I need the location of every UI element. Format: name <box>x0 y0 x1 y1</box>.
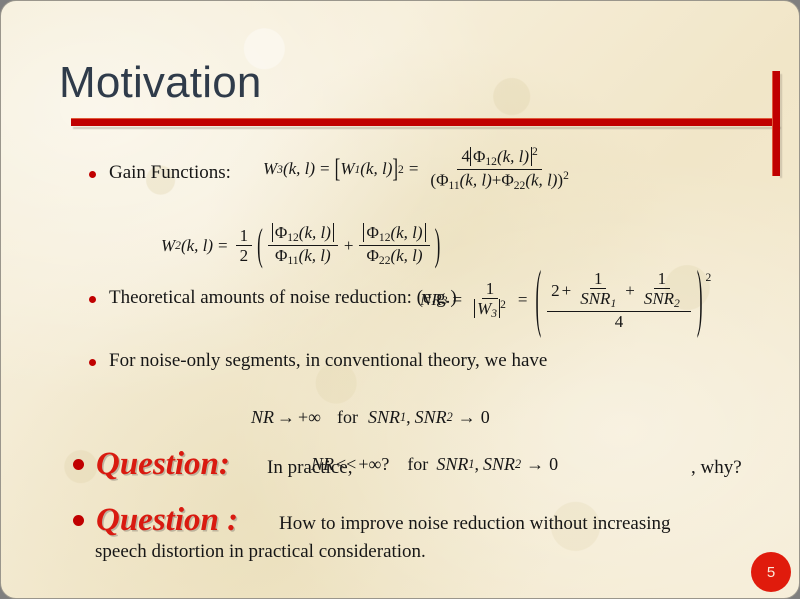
formula-nr3-f1-den-w: W <box>477 299 491 318</box>
formula-limit: NR → +∞ for SNR1, SNR2 → 0 <box>251 407 490 428</box>
formula-nr3-inner-f2-den-text: SNR <box>644 289 674 308</box>
formula-w3-fraction: 4Φ12(k, l)2 (Φ11(k, l)+Φ22(k, l))2 <box>426 146 572 193</box>
formula-nr3-inner-f2-num: 1 <box>654 269 671 289</box>
formula-nr3-inner-f1-num: 1 <box>590 269 607 289</box>
question-1-heading: Question: <box>96 446 230 483</box>
formula-w2-t2-den-sub: 22 <box>379 254 391 267</box>
formula-w3-den-phi1-sub: 11 <box>449 179 460 192</box>
formula-limit-snr1: SNR <box>368 407 400 428</box>
formula-nr3-inner-f2-den-sub: 2 <box>674 297 680 310</box>
formula-w3-den-args1: (k, l) <box>460 171 492 190</box>
formula-w3-args: (k, l) <box>283 159 315 179</box>
formula-q1-question-mark: ? <box>381 454 389 475</box>
formula-w3-bracket-close: ] <box>392 154 398 185</box>
formula-w3-numerator: 4Φ12(k, l)2 <box>457 146 541 170</box>
formula-q1-arrow: → <box>526 454 544 475</box>
formula-nr3-f1-den-abs: W3 <box>474 299 500 318</box>
formula-w2-term2-num: Φ12(k, l) <box>359 223 429 246</box>
formula-w2-term2-den: Φ22(k, l) <box>362 246 426 268</box>
formula-w2-half-den: 2 <box>236 246 253 265</box>
formula-nr3-eq2: = <box>518 290 528 310</box>
formula-w3-eq1: = <box>320 159 330 179</box>
formula-w3-w1-args: (k, l) <box>360 159 392 179</box>
formula-w3-denominator: (Φ11(k, l)+Φ22(k, l))2 <box>426 170 572 193</box>
formula-q1-zero: 0 <box>549 454 558 475</box>
formula-w3-den-args2: (k, l) <box>525 171 557 190</box>
bullet-label-gain-functions: Gain Functions: <box>109 162 231 184</box>
formula-w3-num-abs: Φ12(k, l) <box>470 147 532 166</box>
formula-nr3-f1-den-pow: 2 <box>500 298 506 311</box>
formula-nr3-paren-close: ) <box>697 256 703 344</box>
formula-nr3-inner-two: 2 <box>551 281 560 300</box>
formula-w2-t2-num-phi: Φ <box>366 223 378 242</box>
formula-w2-plus: + <box>344 236 354 256</box>
presentation-slide: Motivation Gain Functions: W3(k, l) = [ … <box>0 0 800 599</box>
formula-w2-eq: = <box>218 236 228 256</box>
question-2-line-2: speech distortion in practical considera… <box>95 541 426 563</box>
formula-w3-bracket-open: [ <box>335 154 341 185</box>
bullet-marker-question-2 <box>73 515 84 526</box>
formula-w3-lhs: W <box>263 159 277 179</box>
formula-w2-term2: Φ12(k, l) Φ22(k, l) <box>359 223 429 268</box>
formula-w3-den-phi2-sub: 22 <box>514 179 526 192</box>
formula-w3-num-phi-sub: 12 <box>485 155 497 168</box>
title-rule-shadow <box>73 127 781 129</box>
formula-nr3-inner-f1-den-text: SNR <box>580 289 610 308</box>
formula-nr3-inner-plus2: + <box>625 281 635 300</box>
formula-limit-for: for <box>337 407 358 428</box>
bullet-marker-3 <box>89 359 96 366</box>
formula-q1-inf: +∞ <box>358 454 381 475</box>
formula-w2-term1: Φ12(k, l) Φ11(k, l) <box>268 223 338 268</box>
formula-w3-num-args: (k, l) <box>497 147 529 166</box>
formula-nr3-inner-f1-den-sub: 1 <box>610 297 616 310</box>
formula-w2-half: 1 2 <box>236 226 253 265</box>
formula-nr3-f1-num: 1 <box>482 279 499 299</box>
formula-q1-snr1: SNR <box>436 454 468 475</box>
bullet-label-theoretical-noise-reduction: Theoretical amounts of noise reduction: … <box>109 287 457 309</box>
formula-w2-args: (k, l) <box>181 236 213 256</box>
formula-w2-term2-num-abs: Φ12(k, l) <box>363 223 425 242</box>
formula-nr3-lhs: NR <box>420 290 442 310</box>
formula-w3-num-pow: 2 <box>532 145 538 158</box>
formula-w2-t1-den-sub: 11 <box>287 254 298 267</box>
formula-w3-den-pow: 2 <box>563 169 569 182</box>
formula-nr3-inner-f2-den: SNR2 <box>640 289 684 311</box>
formula-nr3-outer-frac: 2 + 1 SNR1 + 1 SNR2 4 <box>547 269 691 331</box>
bullet-marker-1 <box>89 171 96 178</box>
formula-w2-t1-den-phi: Φ <box>275 246 287 265</box>
formula-nr3-outer-num: 2 + 1 SNR1 + 1 SNR2 <box>547 269 691 312</box>
title-underline-rule <box>71 118 779 126</box>
page-title: Motivation <box>59 58 262 108</box>
vertical-accent-bar-shadow <box>780 74 782 178</box>
formula-w2-t2-den-phi: Φ <box>366 246 378 265</box>
formula-nr3-lhs-sub: 3 <box>442 294 448 307</box>
formula-w3-den-phi1: Φ <box>436 171 448 190</box>
formula-w3-den-phi2: Φ <box>501 171 513 190</box>
formula-limit-comma: , <box>406 407 411 428</box>
bullet-marker-question-1 <box>73 459 84 470</box>
formula-nr3-inner-plus1: + <box>562 281 572 300</box>
page-number-badge: 5 <box>751 552 791 592</box>
formula-limit-snr2-sub: 2 <box>447 410 453 425</box>
formula-w2-t1-num-args: (k, l) <box>299 223 331 242</box>
formula-nr3-inner-f1-den: SNR1 <box>576 289 620 311</box>
formula-w3-num-coeff: 4 <box>461 147 470 166</box>
formula-nr3-inner-frac2: 1 SNR2 <box>640 269 684 311</box>
formula-nr3-paren-open: ( <box>535 256 541 344</box>
formula-w3-bracket-pow: 2 <box>398 163 404 176</box>
formula-w2-t2-num-sub: 12 <box>379 231 391 244</box>
formula-w2-t1-den-args: (k, l) <box>299 246 331 265</box>
formula-limit-arrow: → <box>277 407 295 428</box>
formula-q1-snr2-sub: 2 <box>515 457 521 472</box>
formula-w2-t2-den-args: (k, l) <box>390 246 422 265</box>
formula-limit-nr: NR <box>251 407 274 428</box>
question-2-heading: Question : <box>96 502 238 539</box>
formula-nr3-outer-den: 4 <box>611 312 628 331</box>
formula-w2: W2(k, l) = 1 2 ( Φ12(k, l) Φ11(k, l) + Φ… <box>161 223 442 268</box>
formula-nr3-eq1: = <box>453 290 463 310</box>
formula-w3-w1: W <box>340 159 354 179</box>
question-1-text-b: , why? <box>691 457 742 479</box>
formula-limit-plus-inf: +∞ <box>298 407 321 428</box>
formula-w2-lhs: W <box>161 236 175 256</box>
formula-nr3-f1-den: W32 <box>470 299 510 322</box>
formula-nr3-outer-pow: 2 <box>706 271 712 284</box>
formula-q1-rel: << <box>336 454 356 475</box>
formula-w2-paren-close: ) <box>435 220 441 272</box>
formula-w3-eq2: = <box>409 159 419 179</box>
question-2-line-1: How to improve noise reduction without i… <box>279 513 671 535</box>
formula-limit-arrow2: → <box>458 407 476 428</box>
formula-w2-t2-num-args: (k, l) <box>390 223 422 242</box>
formula-w3-den-plus: + <box>492 171 502 190</box>
formula-w2-paren-open: ( <box>257 220 263 272</box>
bullet-label-noise-only-segments: For noise-only segments, in conventional… <box>109 350 547 372</box>
bullet-marker-2 <box>89 296 96 303</box>
formula-q1-for: for <box>407 454 428 475</box>
formula-q1-comma: , <box>474 454 479 475</box>
vertical-accent-bar <box>772 71 780 176</box>
formula-w3-num-phi: Φ <box>473 147 485 166</box>
formula-w2-term1-num-abs: Φ12(k, l) <box>272 223 334 242</box>
formula-w2-t1-num-sub: 12 <box>287 231 299 244</box>
formula-nr3-frac1: 1 W32 <box>470 279 510 322</box>
formula-w2-term1-den: Φ11(k, l) <box>271 246 335 268</box>
formula-nr3: NR3 = 1 W32 = ( 2 + 1 SNR1 + 1 SNR2 4 <box>420 269 711 331</box>
formula-question-1: NR << +∞ ? for SNR1, SNR2 → 0 <box>311 454 558 475</box>
formula-w3: W3(k, l) = [ W1(k, l) ]2 = 4Φ12(k, l)2 (… <box>263 146 576 193</box>
formula-w2-term1-num: Φ12(k, l) <box>268 223 338 246</box>
formula-q1-snr2: SNR <box>483 454 515 475</box>
formula-nr3-inner-frac1: 1 SNR1 <box>576 269 620 311</box>
formula-w2-t1-num-phi: Φ <box>275 223 287 242</box>
formula-limit-zero: 0 <box>481 407 490 428</box>
formula-nr3-f1-den-sub: 3 <box>491 308 497 321</box>
formula-w2-half-num: 1 <box>236 226 253 246</box>
formula-limit-snr2: SNR <box>415 407 447 428</box>
formula-q1-nr: NR <box>311 454 334 475</box>
